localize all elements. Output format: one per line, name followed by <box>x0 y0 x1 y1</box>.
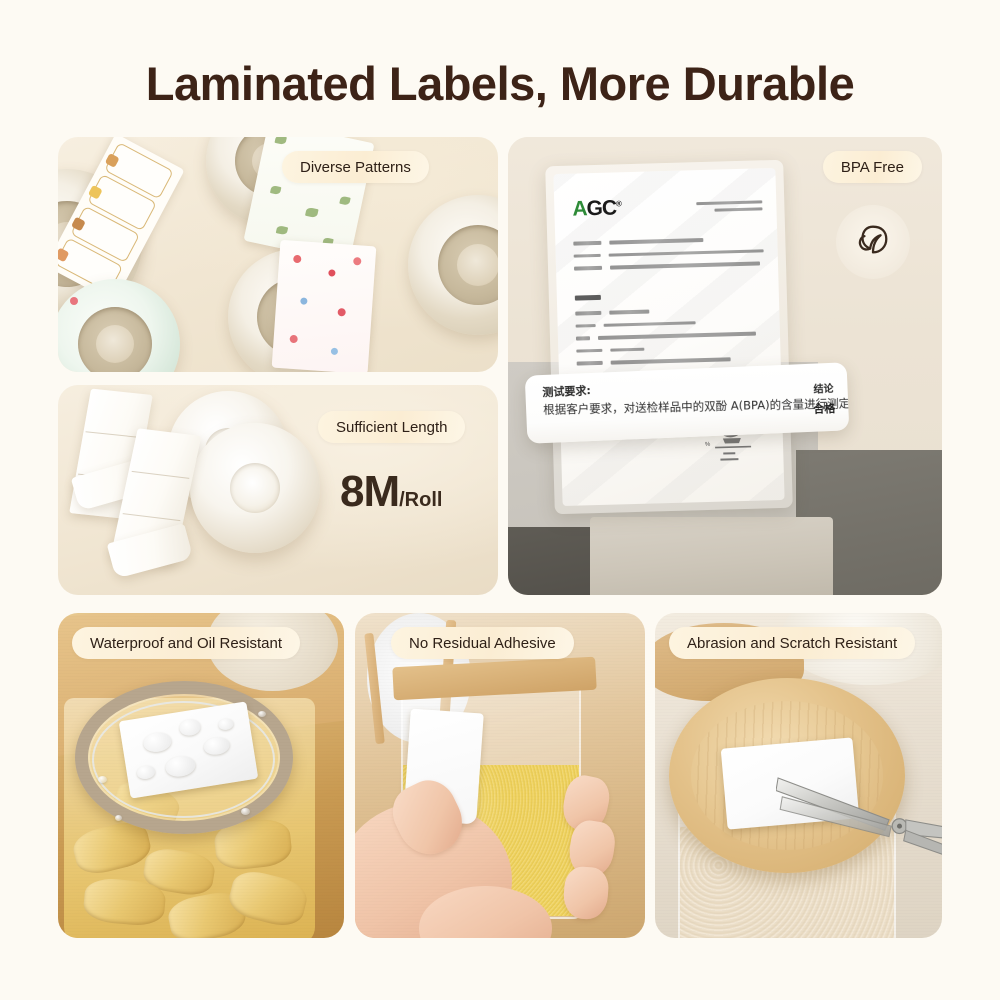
label-roll-white <box>190 423 320 553</box>
field-key <box>573 241 601 245</box>
test-certificate: AGC® <box>553 168 784 506</box>
scene-pedestal <box>590 517 833 595</box>
panel-bpa-free: AGC® <box>508 137 942 595</box>
certificate-fields-a <box>573 236 764 270</box>
badge-label: Diverse Patterns <box>300 159 411 176</box>
flower-pattern-dot <box>300 297 307 304</box>
scissors-icon <box>776 756 942 880</box>
panel-sufficient-length: Sufficient Length 8M/Roll <box>58 385 498 595</box>
metric-value: 8M <box>340 467 399 516</box>
test-requirement-title: 测试要求: <box>542 382 591 400</box>
field-value <box>604 321 696 327</box>
tape-perforation <box>122 513 181 522</box>
field-key <box>576 348 602 352</box>
panel-no-residual-adhesive: No Residual Adhesive <box>355 613 645 938</box>
water-droplet <box>217 717 234 730</box>
label-strip-critters <box>58 137 185 303</box>
flower-pattern-dot <box>353 257 362 266</box>
registered-mark: ® <box>616 199 621 208</box>
certificate-meta <box>696 200 762 212</box>
panel-abrasion-scratch-resistant: Abrasion and Scratch Resistant <box>655 613 942 938</box>
water-droplet <box>163 753 197 778</box>
logo-text: GC <box>586 196 616 220</box>
leaf-pattern-dot <box>339 196 350 206</box>
flower-pattern-dot <box>331 348 338 355</box>
roll-hole <box>96 325 134 363</box>
meta-line <box>696 200 762 205</box>
svg-text:%: % <box>705 442 711 448</box>
leaf-pattern-dot <box>276 225 288 235</box>
flower-pattern-dot <box>337 308 346 317</box>
label-strip-floral <box>272 240 377 372</box>
logo-a-mark: A <box>572 197 587 220</box>
field-value <box>609 249 764 257</box>
panel-waterproof-oil-resistant: Waterproof and Oil Resistant <box>58 613 344 938</box>
field-value <box>598 332 756 340</box>
field-key <box>576 324 596 328</box>
label-roll <box>408 195 498 335</box>
page-title: Laminated Labels, More Durable <box>0 56 1000 111</box>
panel-diverse-patterns: Diverse Patterns <box>58 137 498 372</box>
flower-pattern-dot <box>70 297 78 305</box>
badge-diverse-patterns: Diverse Patterns <box>282 151 429 183</box>
tape-perforation <box>131 471 190 480</box>
certificate-fields-b <box>575 306 766 365</box>
pasta-piece <box>82 877 166 928</box>
field-value <box>610 347 644 351</box>
water-droplet <box>115 815 122 821</box>
tape-perforation <box>86 431 143 438</box>
field-value <box>609 310 649 315</box>
length-metric: 8M/Roll <box>340 467 442 517</box>
eco-badge <box>836 205 910 279</box>
badge-label: Waterproof and Oil Resistant <box>90 635 282 652</box>
badge-sufficient-length: Sufficient Length <box>318 411 465 443</box>
certificate-stand: AGC® <box>545 160 793 515</box>
leaf-pattern-dot <box>270 185 281 195</box>
metric-unit: /Roll <box>399 489 442 511</box>
water-droplet <box>98 776 107 783</box>
badge-label: Abrasion and Scratch Resistant <box>687 635 897 652</box>
field-key <box>577 361 603 365</box>
conclusion-value: 合格 <box>813 400 836 417</box>
water-droplet <box>136 764 156 779</box>
badge-abrasion: Abrasion and Scratch Resistant <box>669 627 915 659</box>
water-droplet <box>141 730 172 753</box>
water-droplet <box>241 808 250 815</box>
scene-block-foot <box>508 527 592 595</box>
test-requirement-band: 测试要求: 根据客户要求，对送检样品中的双酚 A(BPA)的含量进行测定。 结论… <box>525 362 850 443</box>
leaf-icon <box>854 221 892 264</box>
badge-label: No Residual Adhesive <box>409 635 556 652</box>
field-key <box>576 336 590 340</box>
label-roll <box>58 279 180 372</box>
badge-no-residue: No Residual Adhesive <box>391 627 574 659</box>
badge-bpa-free: BPA Free <box>823 151 922 183</box>
finger <box>562 865 609 920</box>
badge-label: BPA Free <box>841 159 904 176</box>
flower-pattern-dot <box>328 269 335 276</box>
water-droplet <box>202 735 230 756</box>
field-key <box>575 311 601 315</box>
roll-core <box>230 463 280 513</box>
badge-label: Sufficient Length <box>336 419 447 436</box>
field-key <box>574 253 601 257</box>
leaf-pattern-dot <box>274 137 286 145</box>
water-droplet <box>258 711 266 717</box>
water-droplet <box>178 718 201 737</box>
test-requirement-body: 根据客户要求，对送检样品中的双酚 A(BPA)的含量进行测定。 <box>543 395 849 418</box>
badge-waterproof: Waterproof and Oil Resistant <box>72 627 300 659</box>
flower-pattern-dot <box>289 335 298 344</box>
leaf-pattern-dot <box>305 207 319 218</box>
roll-hole <box>457 244 498 286</box>
agc-logo: AGC® <box>572 196 621 221</box>
conclusion-label: 结论 <box>813 380 834 396</box>
flower-pattern-dot <box>293 255 302 264</box>
certificate-section-title <box>575 295 601 301</box>
